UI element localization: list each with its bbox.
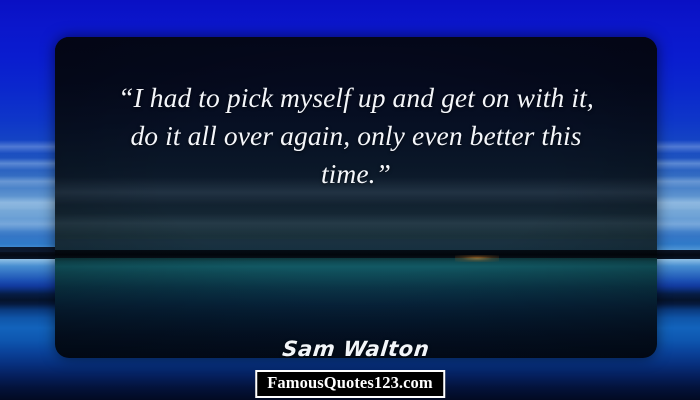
card-content: “I had to pick myself up and get on with… <box>55 37 657 358</box>
quote-text: “I had to pick myself up and get on with… <box>55 37 657 193</box>
quote-image: “I had to pick myself up and get on with… <box>0 0 700 400</box>
quote-author: Sam Walton <box>55 337 657 358</box>
watermark-badge[interactable]: FamousQuotes123.com <box>255 370 445 398</box>
quote-card: “I had to pick myself up and get on with… <box>55 37 657 358</box>
